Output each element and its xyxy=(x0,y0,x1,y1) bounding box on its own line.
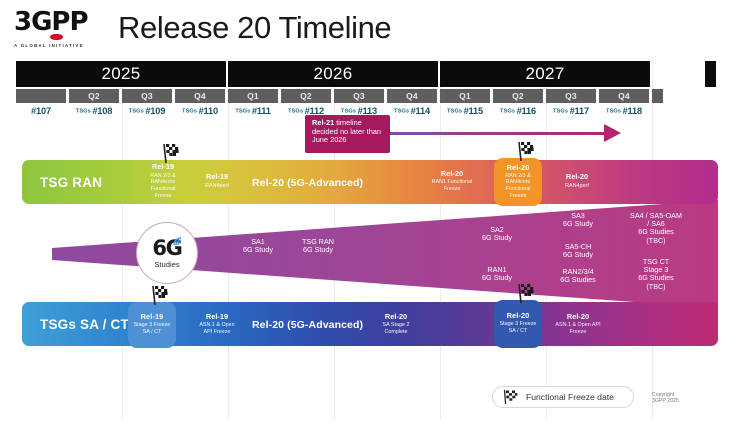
milestone-detail: RAN1 Functional Freeze xyxy=(431,179,473,193)
3gpp-logo: 3GPP A GLOBAL INITIATIVE xyxy=(14,8,114,56)
quarter-bar-Q2-5: Q2 xyxy=(281,89,331,103)
meeting-tsgs-prefix: TSGs xyxy=(553,109,568,115)
milestone-title: Rel-20 xyxy=(566,174,588,181)
milestone-detail: RAN 2/3 & RAN4core Functional Freeze xyxy=(142,173,184,200)
6g-study-line: 6G Study xyxy=(563,251,593,259)
checkered-flag-icon xyxy=(516,141,538,161)
functional-freeze-flag xyxy=(150,285,172,305)
6g-study-line: (TBC) xyxy=(630,237,682,245)
wifi-waves-icon xyxy=(172,234,185,247)
meeting-number-value: #115 xyxy=(464,106,483,116)
functional-freeze-flag xyxy=(516,283,538,303)
milestone-rel-20: Rel-20RAN4perf xyxy=(552,166,602,198)
milestone-title: Rel-19 xyxy=(141,314,164,321)
meeting-number-value: #116 xyxy=(517,106,536,116)
milestone-title: Rel-20 xyxy=(567,314,589,321)
meeting-number: TSGs#109 xyxy=(122,104,172,118)
meeting-number: TSGs#117 xyxy=(546,104,596,118)
milestone-title: Rel-20 xyxy=(385,314,407,321)
functional-freeze-flag xyxy=(161,143,183,163)
meeting-number-value: #114 xyxy=(411,106,430,116)
milestone-rel-20: Rel-20RAN 2/3 & RAN4core Functional Free… xyxy=(494,158,542,206)
tsgs-sa-ct-band-title: TSGs SA / CT xyxy=(40,302,129,346)
milestone-detail: SA Stage 2 Complete xyxy=(371,322,421,336)
milestone-rel-19: Rel-19ASN.1 & Open API Freeze xyxy=(192,308,242,342)
meeting-number-value: #110 xyxy=(199,106,218,116)
logo-subtitle: A GLOBAL INITIATIVE xyxy=(14,43,114,48)
milestone-title: Rel-19 xyxy=(152,164,174,171)
6g-study-line: 6G Study xyxy=(243,246,273,254)
6g-study-line: (TBC) xyxy=(638,283,674,291)
tsg-ran-band: TSG RAN Rel-20 (5G-Advanced) xyxy=(22,160,718,204)
milestone-rel-20: Rel-20SA Stage 2 Complete xyxy=(368,308,424,342)
6g-study-label: TSG RAN6G Study xyxy=(302,238,334,254)
rel21-arrow-head xyxy=(604,124,621,142)
quarter-bar-stub-12 xyxy=(652,89,663,103)
quarter-bar-Q2-9: Q2 xyxy=(493,89,543,103)
6g-study-label: TSG CTStage 36G Studies(TBC) xyxy=(638,258,674,291)
meeting-tsgs-prefix: TSGs xyxy=(341,109,356,115)
6g-badge-label: Studies xyxy=(154,260,179,269)
copyright-line-2: 3GPP 2025 xyxy=(652,398,679,404)
rel21-callout-text: Rel-21 timeline decided no later than Ju… xyxy=(312,119,385,145)
6g-study-label: SA5-CH6G Study xyxy=(563,243,593,259)
ran-main-label: Rel-20 (5G-Advanced) xyxy=(252,177,363,189)
meeting-tsgs-prefix: TSGs xyxy=(235,109,250,115)
meeting-number: TSGs#111 xyxy=(228,104,278,118)
meeting-number-value: #111 xyxy=(252,106,271,116)
timeline-infographic: 3GPP A GLOBAL INITIATIVE Release 20 Time… xyxy=(0,0,750,433)
milestone-title: Rel-19 xyxy=(206,314,228,321)
milestone-rel-20: Rel-20ASN.1 & Open API Freeze xyxy=(552,308,604,342)
meeting-tsgs-prefix: TSGs xyxy=(129,109,144,115)
6g-study-label: SA26G Study xyxy=(482,226,512,242)
milestone-detail: RAN 2/3 & RAN4core Functional Freeze xyxy=(497,173,539,199)
functional-freeze-flag xyxy=(516,141,538,161)
6g-study-line: 6G Study xyxy=(482,274,512,282)
copyright-notice: Copyright 3GPP 2025 xyxy=(652,392,679,405)
legend: Functional Freeze date xyxy=(492,386,634,408)
milestone-detail: Stage 3 Freeze SA / CT xyxy=(131,322,173,335)
milestone-title: Rel-20 xyxy=(441,171,463,178)
milestone-rel-19: Rel-19RAN4perf xyxy=(193,166,241,198)
meeting-tsgs-prefix: TSGs xyxy=(288,109,303,115)
meeting-number: TSGs#108 xyxy=(69,104,119,118)
milestone-detail: Stage 3 Freeze SA / CT xyxy=(497,321,539,334)
quarter-bar-Q3-10: Q3 xyxy=(546,89,596,103)
milestone-title: Rel-20 xyxy=(507,165,530,172)
page-title: Release 20 Timeline xyxy=(118,10,391,46)
milestone-detail: RAN4perf xyxy=(205,183,229,190)
6g-study-label: RAN16G Study xyxy=(482,266,512,282)
year-bar-2026: 2026 xyxy=(228,61,438,87)
rel21-arrow-line xyxy=(390,132,608,135)
milestone-detail: ASN.1 & Open API Freeze xyxy=(195,322,239,336)
meeting-number: TSGs#110 xyxy=(175,104,225,118)
year-bar-2025: 2025 xyxy=(16,61,226,87)
rel21-callout: Rel-21 timeline decided no later than Ju… xyxy=(305,115,390,153)
6g-study-line: 6G Study xyxy=(563,220,593,228)
6g-study-label: RAN2/3/46G Studies xyxy=(560,268,596,284)
quarter-bar-Q2-1: Q2 xyxy=(69,89,119,103)
meeting-number-value: #108 xyxy=(92,106,112,116)
quarter-bar-Q4-11: Q4 xyxy=(599,89,649,103)
milestone-title: Rel-20 xyxy=(507,313,530,320)
quarter-bar-Q1-4: Q1 xyxy=(228,89,278,103)
milestone-detail: ASN.1 & Open API Freeze xyxy=(555,322,601,336)
tsg-ran-band-title: TSG RAN xyxy=(40,160,102,204)
logo-red-accent xyxy=(50,34,63,40)
meeting-tsgs-prefix: TSGs xyxy=(182,109,197,115)
milestone-rel-19: Rel-19RAN 2/3 & RAN4core Functional Free… xyxy=(139,160,187,204)
6g-study-line: 6G Study xyxy=(302,246,334,254)
logo-text: 3GPP xyxy=(14,7,88,37)
year-bar-2027: 2027 xyxy=(440,61,650,87)
6g-study-label: SA4 / SA5-OAM/ SA66G Studies(TBC) xyxy=(630,212,682,245)
quarter-bar-Q3-2: Q3 xyxy=(122,89,172,103)
milestone-rel-20: Rel-20RAN1 Functional Freeze xyxy=(428,164,476,200)
checkered-flag-icon xyxy=(161,143,183,163)
quarter-bar-Q1-8: Q1 xyxy=(440,89,490,103)
checkered-flag-icon xyxy=(150,285,172,305)
quarter-bar-stub-0 xyxy=(16,89,66,103)
legend-label: Functional Freeze date xyxy=(526,392,614,402)
milestone-rel-19: Rel-19Stage 3 Freeze SA / CT xyxy=(128,302,176,348)
year-bar-stub xyxy=(705,61,716,87)
6g-study-label: SA36G Study xyxy=(563,212,593,228)
meeting-tsgs-prefix: TSGs xyxy=(447,109,462,115)
meeting-number-value: #118 xyxy=(623,106,642,116)
meeting-number: TSGs#118 xyxy=(599,104,649,118)
6g-studies-badge: 6G Studies xyxy=(136,222,198,284)
checkered-flag-icon xyxy=(516,283,538,303)
sact-main-label: Rel-20 (5G-Advanced) xyxy=(252,319,363,331)
meeting-tsgs-prefix: TSGs xyxy=(606,109,621,115)
6g-study-line: 6G Studies xyxy=(560,276,596,284)
meeting-number-value: #117 xyxy=(570,106,589,116)
meeting-number: TSGs#114 xyxy=(387,104,437,118)
meeting-number-value: #109 xyxy=(145,106,165,116)
milestone-title: Rel-19 xyxy=(206,174,228,181)
quarter-bar-Q4-3: Q4 xyxy=(175,89,225,103)
meeting-number: #107 xyxy=(16,104,66,118)
meeting-number-value: #107 xyxy=(31,106,51,116)
milestone-detail: RAN4perf xyxy=(565,183,589,190)
checkered-flag-icon xyxy=(502,389,519,405)
quarter-bar-Q3-6: Q3 xyxy=(334,89,384,103)
6g-study-label: SA16G Study xyxy=(243,238,273,254)
6g-study-line: 6G Study xyxy=(482,234,512,242)
meeting-tsgs-prefix: TSGs xyxy=(500,109,515,115)
meeting-tsgs-prefix: TSGs xyxy=(76,109,91,115)
meeting-tsgs-prefix: TSGs xyxy=(394,109,409,115)
meeting-number: TSGs#115 xyxy=(440,104,490,118)
meeting-number: TSGs#116 xyxy=(493,104,543,118)
logo-wordmark: 3GPP xyxy=(14,8,114,36)
6g-mark: 6G xyxy=(152,238,181,258)
quarter-bar-Q4-7: Q4 xyxy=(387,89,437,103)
milestone-rel-20: Rel-20Stage 3 Freeze SA / CT xyxy=(494,300,542,348)
